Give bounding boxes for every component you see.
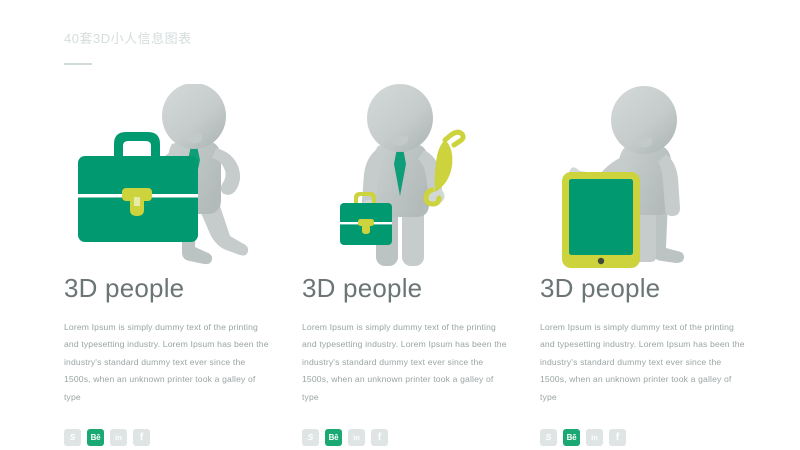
social-links-row: S Bē in f: [540, 429, 752, 446]
page-title: 40套3D小人信息图表: [64, 30, 664, 48]
facebook-icon[interactable]: f: [371, 429, 388, 446]
linkedin-icon[interactable]: in: [110, 429, 127, 446]
linkedin-icon[interactable]: in: [348, 429, 365, 446]
behance-icon[interactable]: Bē: [325, 429, 342, 446]
behance-icon[interactable]: Bē: [563, 429, 580, 446]
skype-icon[interactable]: S: [540, 429, 557, 446]
column-body-text: Lorem Ipsum is simply dummy text of the …: [64, 319, 269, 407]
column-heading: 3D people: [302, 270, 514, 303]
column-body-text: Lorem Ipsum is simply dummy text of the …: [540, 319, 745, 407]
illustration-person-with-briefcase-and-umbrella: [302, 84, 514, 270]
column-body-text: Lorem Ipsum is simply dummy text of the …: [302, 319, 507, 407]
social-links-row: S Bē in f: [64, 429, 276, 446]
facebook-icon[interactable]: f: [133, 429, 150, 446]
content-column-2: 3D people Lorem Ipsum is simply dummy te…: [302, 84, 514, 446]
skype-icon[interactable]: S: [64, 429, 81, 446]
illustration-person-with-tablet: [540, 84, 752, 270]
skype-icon[interactable]: S: [302, 429, 319, 446]
illustration-person-with-large-briefcase: [64, 84, 276, 270]
behance-icon[interactable]: Bē: [87, 429, 104, 446]
title-underline-rule: [64, 63, 92, 65]
content-column-1: 3D people Lorem Ipsum is simply dummy te…: [64, 84, 276, 446]
column-heading: 3D people: [64, 270, 276, 303]
page-header: 40套3D小人信息图表: [64, 30, 664, 65]
facebook-icon[interactable]: f: [609, 429, 626, 446]
linkedin-icon[interactable]: in: [586, 429, 603, 446]
content-columns: 3D people Lorem Ipsum is simply dummy te…: [64, 84, 754, 446]
column-heading: 3D people: [540, 270, 752, 303]
social-links-row: S Bē in f: [302, 429, 514, 446]
content-column-3: 3D people Lorem Ipsum is simply dummy te…: [540, 84, 752, 446]
